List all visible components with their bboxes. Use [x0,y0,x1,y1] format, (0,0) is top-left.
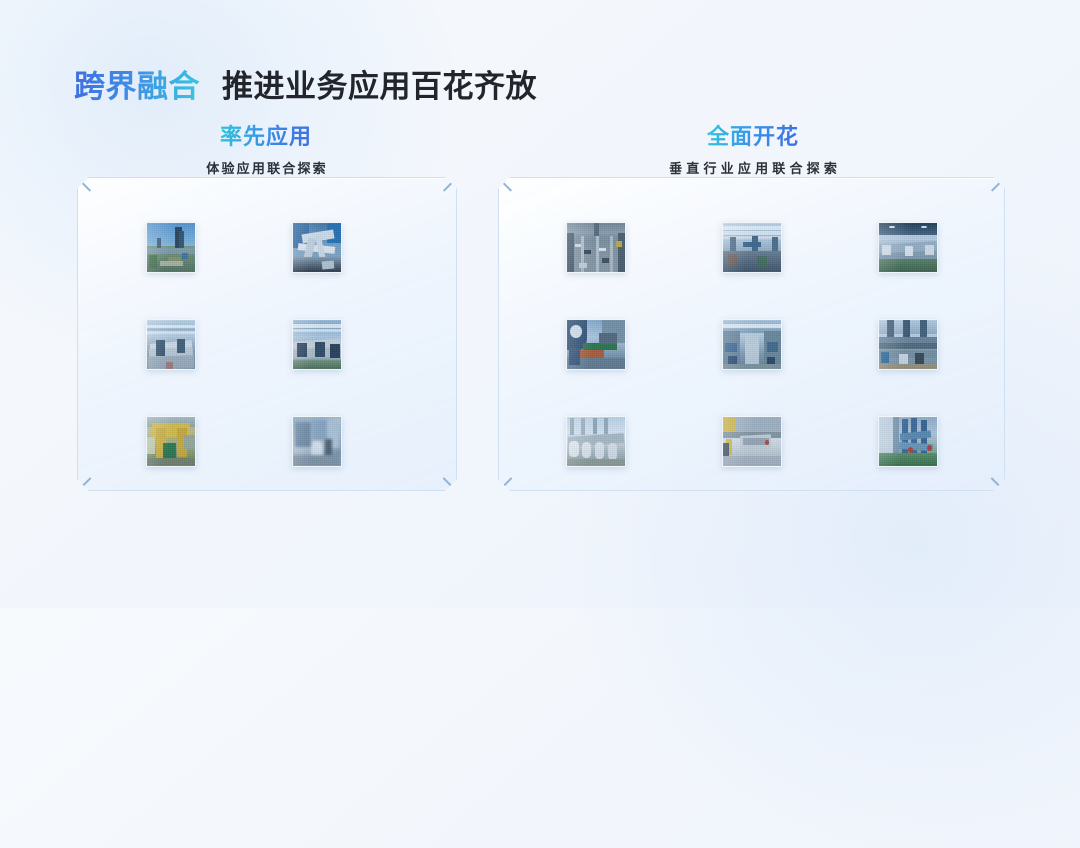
section-right-title: 全面开花 [486,122,1020,152]
photo-garment-assembly-line[interactable] [292,319,342,370]
bevel-top-right-icon [443,178,456,191]
photo-pipe-and-valve-installation[interactable] [878,416,938,467]
bevel-top-left-icon [499,178,512,191]
bevel-bottom-right-icon [991,477,1004,490]
photo-electronics-production-line[interactable] [146,319,196,370]
page-title: 跨界融合推进业务应用百花齐放 [74,65,537,109]
photo-automated-stamping-press[interactable] [722,416,782,467]
section-left: 率先应用 体验应用联合探索 [60,122,472,178]
section-left-subtitle: 体验应用联合探索 [60,160,472,178]
section-right-title-text: 全面开花 [707,124,799,149]
photo-automotive-assembly-floor[interactable] [878,222,938,273]
page-title-plain: 推进业务应用百花齐放 [222,69,537,104]
content-board: 率先应用 体验应用联合探索 [0,122,1080,562]
bevel-bottom-left-icon [499,477,512,490]
section-right: 全面开花 垂直行业应用联合探索 [486,122,1020,178]
photo-blurred-welding-workstation[interactable] [292,416,342,467]
bevel-top-left-icon [78,178,91,191]
section-left-title-text: 率先应用 [220,124,312,149]
panel-right [498,177,1005,491]
photo-workshop-center-aisle[interactable] [722,319,782,370]
page-title-accent: 跨界融合 [74,69,200,104]
photo-textile-spinning-machines[interactable] [566,416,626,467]
photo-urban-traffic-congestion[interactable] [566,222,626,273]
section-right-subtitle: 垂直行业应用联合探索 [486,160,1020,178]
photo-parts-warehouse-shelving[interactable] [878,319,938,370]
photo-yellow-gantry-assembly-line[interactable] [146,416,196,467]
bevel-bottom-left-icon [78,477,91,490]
panel-left [77,177,457,491]
photo-grid-left [106,206,382,483]
photo-industrial-machinery-closeup[interactable] [292,222,342,273]
photo-large-factory-interior[interactable] [722,222,782,273]
bevel-top-right-icon [991,178,1004,191]
photo-petrochemical-plant-aerial[interactable] [146,222,196,273]
section-left-title: 率先应用 [60,122,472,152]
photo-grid-right [526,206,978,483]
bevel-bottom-right-icon [443,477,456,490]
photo-worker-pcb-assembly[interactable] [566,319,626,370]
